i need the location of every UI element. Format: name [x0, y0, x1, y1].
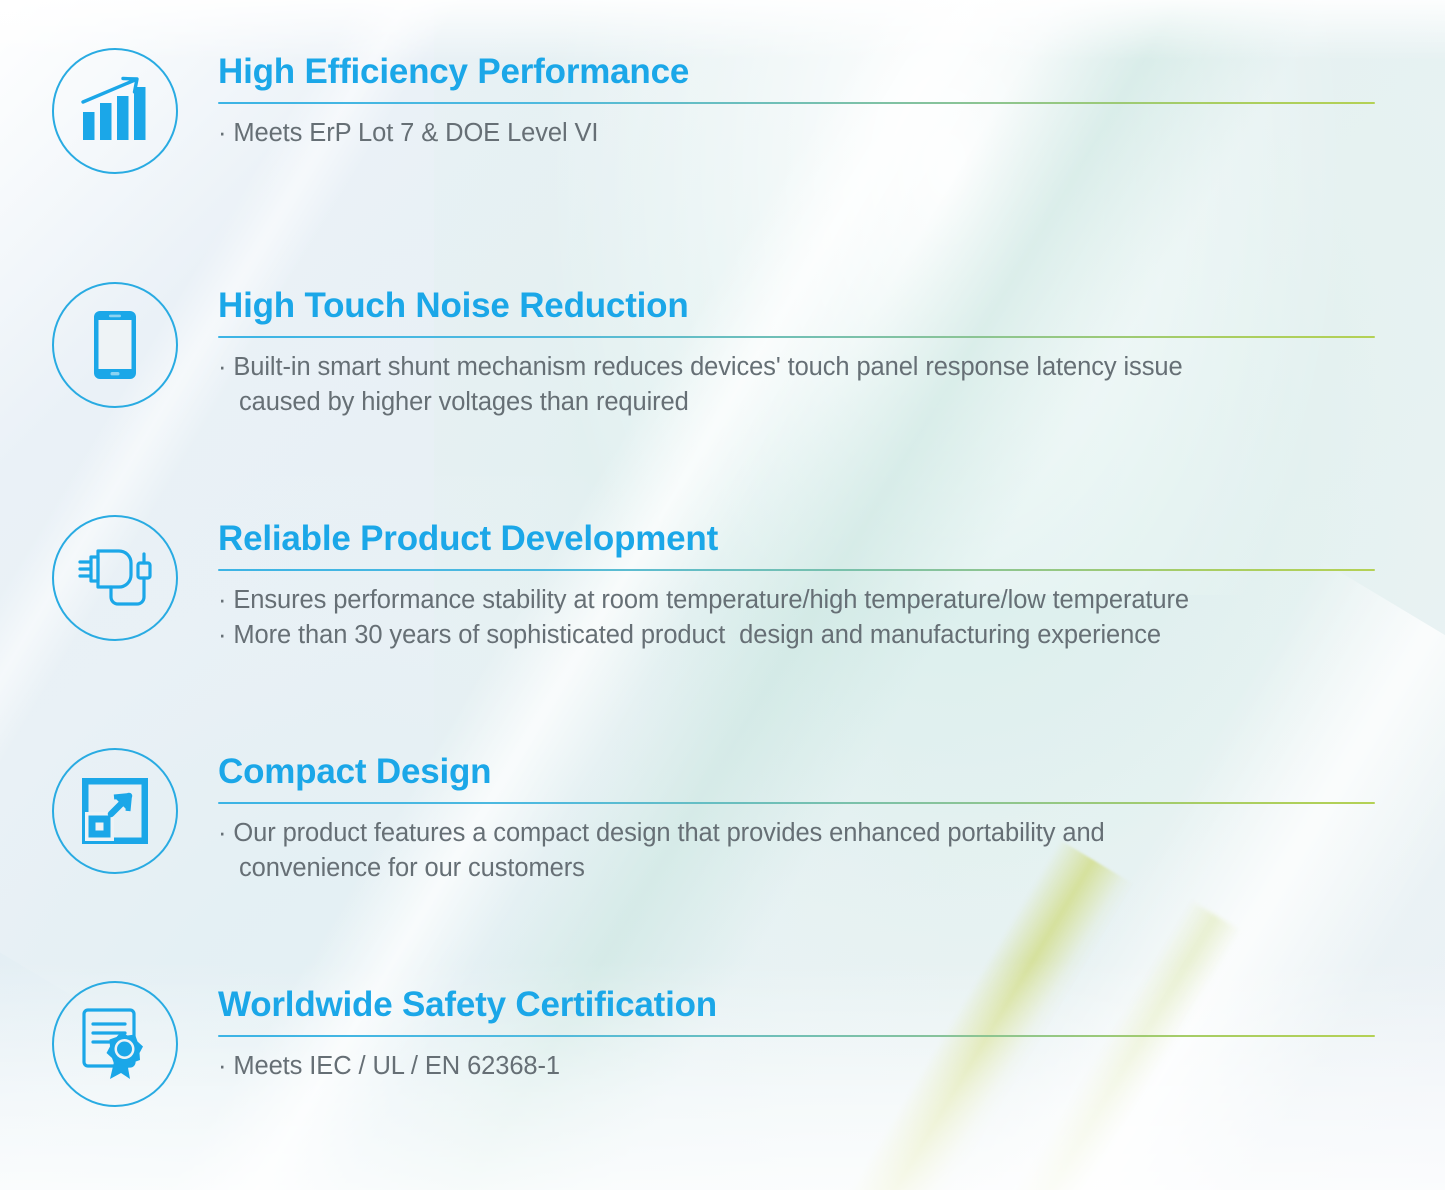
feature-bullet: · Meets ErP Lot 7 & DOE Level VI [218, 116, 1375, 151]
feature-divider [218, 336, 1375, 339]
feature-item-high-efficiency-performance: High Efficiency Performance · Meets ErP … [52, 48, 1375, 174]
feature-bullet: · Meets IEC / UL / EN 62368-1 [218, 1049, 1375, 1084]
bar-chart-growth-icon [52, 48, 178, 174]
feature-bullet: · Built-in smart shunt mechanism reduces… [218, 350, 1375, 420]
power-adapter-icon [52, 515, 178, 641]
feature-body: Worldwide Safety Certification · Meets I… [218, 981, 1375, 1084]
feature-bullet: · More than 30 years of sophisticated pr… [218, 618, 1375, 653]
feature-bullets: · Meets ErP Lot 7 & DOE Level VI [218, 116, 1375, 151]
feature-divider [218, 802, 1375, 805]
feature-bullet: · Our product features a compact design … [218, 816, 1375, 886]
feature-item-compact-design: Compact Design · Our product features a … [52, 748, 1375, 887]
smartphone-icon [52, 282, 178, 408]
feature-item-high-touch-noise-reduction: High Touch Noise Reduction · Built-in sm… [52, 282, 1375, 421]
feature-title: Reliable Product Development [218, 521, 1375, 558]
feature-bullets: · Our product features a compact design … [218, 816, 1375, 886]
feature-bullets: · Ensures performance stability at room … [218, 583, 1375, 653]
feature-bullet: · Ensures performance stability at room … [218, 583, 1375, 618]
feature-body: High Efficiency Performance · Meets ErP … [218, 48, 1375, 151]
feature-title: High Touch Noise Reduction [218, 288, 1375, 325]
feature-title: Compact Design [218, 754, 1375, 791]
feature-item-worldwide-safety-certification: Worldwide Safety Certification · Meets I… [52, 981, 1375, 1107]
feature-body: Reliable Product Development · Ensures p… [218, 515, 1375, 654]
feature-title: Worldwide Safety Certification [218, 987, 1375, 1024]
feature-bullets: · Built-in smart shunt mechanism reduces… [218, 350, 1375, 420]
feature-bullets: · Meets IEC / UL / EN 62368-1 [218, 1049, 1375, 1084]
feature-title: High Efficiency Performance [218, 54, 1375, 91]
feature-divider [218, 1035, 1375, 1038]
feature-item-reliable-product-development: Reliable Product Development · Ensures p… [52, 515, 1375, 654]
feature-body: Compact Design · Our product features a … [218, 748, 1375, 887]
feature-list: High Efficiency Performance · Meets ErP … [0, 0, 1445, 1190]
feature-body: High Touch Noise Reduction · Built-in sm… [218, 282, 1375, 421]
feature-divider [218, 569, 1375, 572]
feature-divider [218, 102, 1375, 105]
certificate-seal-icon [52, 981, 178, 1107]
compact-resize-icon [52, 748, 178, 874]
